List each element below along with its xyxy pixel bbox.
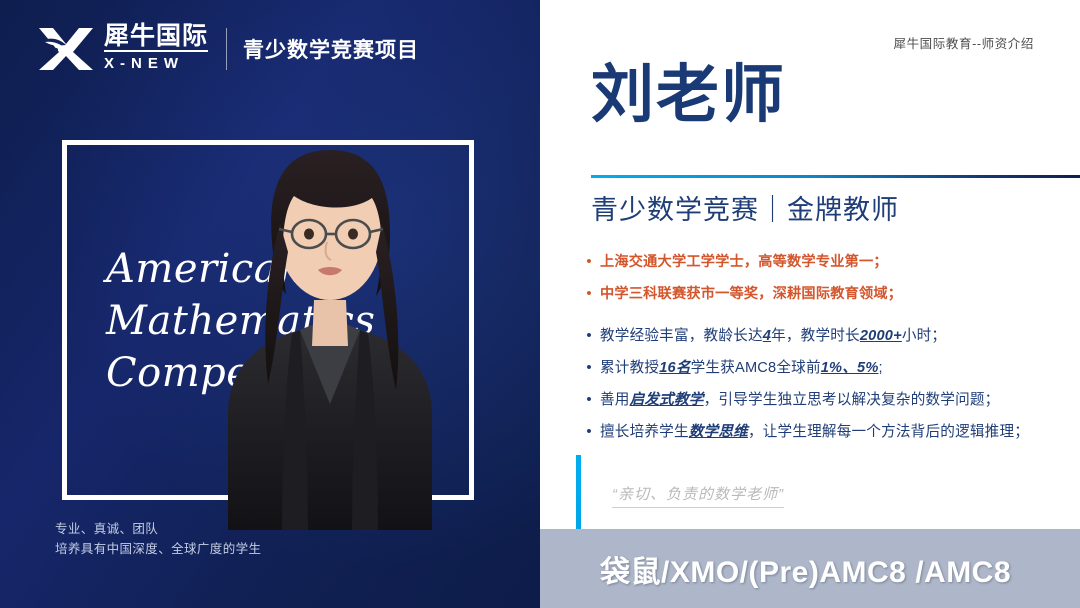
plain-text: 累计教授 bbox=[600, 360, 659, 376]
plain-text: ，让学生理解每一个方法背后的逻辑推理； bbox=[748, 424, 1029, 440]
plain-text: ，引导学生独立思考以解决复杂的数学问题； bbox=[704, 392, 1000, 408]
bullet-dot-icon: • bbox=[578, 418, 600, 446]
teacher-quote: “亲切、负责的数学老师” bbox=[612, 483, 784, 508]
caption-line-2: 培养具有中国深度、全球广度的学生 bbox=[55, 539, 261, 559]
teacher-name: 刘老师 bbox=[591, 64, 786, 127]
bullet-dot-icon: • bbox=[578, 354, 600, 382]
credential-item: •擅长培养学生数学思维，让学生理解每一个方法背后的逻辑推理； bbox=[578, 418, 1080, 446]
credential-text: 累计教授16名学生获AMC8全球前1%、5%; bbox=[600, 354, 883, 382]
right-content: 犀牛国际教育--师资介绍 刘老师 青少数学竞赛｜金牌教师 •上海交通大学工学学士… bbox=[540, 0, 1080, 608]
left-caption: 专业、真诚、团队 培养具有中国深度、全球广度的学生 bbox=[55, 519, 261, 559]
bullet-dot-icon: • bbox=[578, 248, 600, 276]
credential-item: •上海交通大学工学学士，高等数学专业第一； bbox=[578, 248, 1080, 276]
bullet-dot-icon: • bbox=[578, 280, 600, 308]
plain-text: 中学三科联赛获市一等奖，深耕国际教育领域； bbox=[600, 286, 902, 302]
caption-line-1: 专业、真诚、团队 bbox=[55, 519, 261, 539]
teacher-portrait bbox=[196, 84, 464, 530]
brand-text-block: 犀牛国际 X-NEW bbox=[104, 24, 208, 74]
brand-tagline: 青少数学竞赛项目 bbox=[243, 34, 419, 64]
emphasis-text: 数学思维 bbox=[689, 424, 748, 440]
credential-item: •教学经验丰富，教龄长达4年，教学时长2000+小时； bbox=[578, 322, 1080, 350]
bottom-bar-label: 袋鼠/XMO/(Pre)AMC8 /AMC8 bbox=[600, 547, 1011, 591]
teacher-subtitle: 青少数学竞赛｜金牌教师 bbox=[591, 188, 899, 227]
bottom-bar: 袋鼠/XMO/(Pre)AMC8 /AMC8 bbox=[540, 529, 1080, 608]
plain-text: 学生获AMC8全球前 bbox=[691, 360, 821, 376]
credential-text: 上海交通大学工学学士，高等数学专业第一； bbox=[600, 248, 888, 276]
credential-text: 中学三科联赛获市一等奖，深耕国际教育领域； bbox=[600, 280, 902, 308]
plain-text: 善用 bbox=[600, 392, 630, 408]
plain-text: 年，教学时长 bbox=[771, 328, 860, 344]
emphasis-text: 2000+ bbox=[860, 328, 902, 344]
credential-item: •中学三科联赛获市一等奖，深耕国际教育领域； bbox=[578, 280, 1080, 308]
credential-item: •累计教授16名学生获AMC8全球前1%、5%; bbox=[578, 354, 1080, 382]
brand-name-cn: 犀牛国际 bbox=[104, 24, 208, 52]
bullet-dot-icon: • bbox=[578, 322, 600, 350]
bullet-dot-icon: • bbox=[578, 386, 600, 414]
emphasis-text: 1%、5% bbox=[821, 360, 879, 376]
name-divider bbox=[591, 175, 1080, 178]
brand-divider bbox=[226, 28, 227, 70]
emphasis-text: 4 bbox=[763, 328, 771, 344]
credential-text: 擅长培养学生数学思维，让学生理解每一个方法背后的逻辑推理； bbox=[600, 418, 1029, 446]
plain-text: 擅长培养学生 bbox=[600, 424, 689, 440]
rhino-x-logo-icon bbox=[36, 25, 96, 73]
brand-name-en: X-NEW bbox=[104, 54, 208, 74]
plain-text: 小时； bbox=[902, 328, 946, 344]
eyebrow-label: 犀牛国际教育--师资介绍 bbox=[893, 33, 1034, 52]
plain-text: 教学经验丰富，教龄长达 bbox=[600, 328, 763, 344]
plain-text: 上海交通大学工学学士，高等数学专业第一； bbox=[600, 254, 888, 270]
slide-root: 犀牛国际 X-NEW 青少数学竞赛项目 American Mathematics… bbox=[0, 0, 1080, 608]
credential-list: •上海交通大学工学学士，高等数学专业第一；•中学三科联赛获市一等奖，深耕国际教育… bbox=[578, 248, 1080, 450]
brand-lockup: 犀牛国际 X-NEW 青少数学竞赛项目 bbox=[36, 24, 419, 74]
credential-text: 善用启发式教学，引导学生独立思考以解决复杂的数学问题； bbox=[600, 386, 999, 414]
credential-text: 教学经验丰富，教龄长达4年，教学时长2000+小时； bbox=[600, 322, 946, 350]
credential-item: •善用启发式教学，引导学生独立思考以解决复杂的数学问题； bbox=[578, 386, 1080, 414]
emphasis-text: 16名 bbox=[659, 360, 690, 376]
left-panel: 犀牛国际 X-NEW 青少数学竞赛项目 American Mathematics… bbox=[0, 0, 540, 608]
plain-text: ; bbox=[879, 360, 883, 376]
emphasis-text: 启发式教学 bbox=[630, 392, 704, 408]
